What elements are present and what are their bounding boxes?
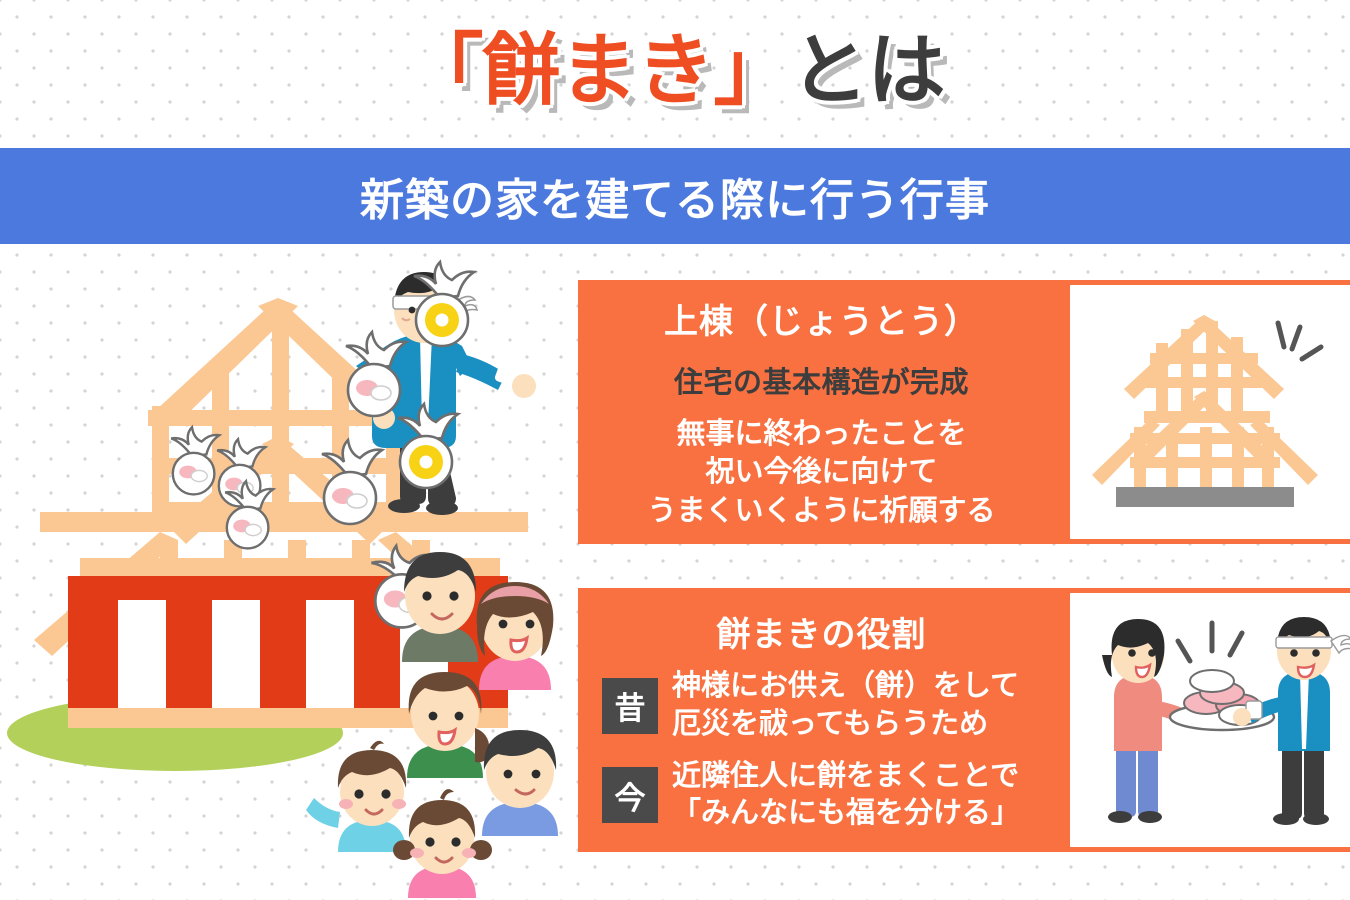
- panel-jouto-body-line-1: 無事に終わったことを: [647, 415, 995, 453]
- panel-jouto-text: 上棟（じょうとう） 住宅の基本構造が完成 無事に終わったことを 祝い今後に向けて…: [578, 280, 1065, 544]
- panel-jouto-subheading: 住宅の基本構造が完成: [674, 359, 969, 401]
- main-title-text: 「餅まき」とは: [405, 31, 944, 109]
- role-past-line-1: 神様にお供え（餅）をして: [672, 668, 1019, 706]
- panel-jouto-heading: 上棟（じょうとう）: [664, 294, 979, 343]
- panel-mochimaki-text: 餅まきの役割 昔 神様にお供え（餅）をして 厄災を祓ってもらうため 今 近隣住人…: [578, 588, 1065, 852]
- mochi-plate: [1170, 670, 1274, 730]
- panel-mochimaki-heading: 餅まきの役割: [717, 607, 927, 656]
- mochi-handover-illustration: [1065, 588, 1350, 852]
- page-title: 「餅まき」とは: [0, 0, 1350, 140]
- sparkle-icon: [1278, 323, 1321, 359]
- role-row-present: 今 近隣住人に餅をまくことで 「みんなにも福を分ける」: [602, 758, 1055, 833]
- title-rest: とは: [791, 26, 945, 114]
- role-present-text: 近隣住人に餅をまくことで 「みんなにも福を分ける」: [672, 758, 1020, 833]
- panel-jouto: 上棟（じょうとう） 住宅の基本構造が完成 無事に終わったことを 祝い今後に向けて…: [578, 280, 1350, 544]
- badge-past: 昔: [602, 678, 658, 734]
- role-present-line-1: 近隣住人に餅をまくことで: [672, 758, 1020, 796]
- infographic-page: 「餅まき」とは 新築の家を建てる際に行う行事: [0, 0, 1350, 900]
- panel-jouto-body-line-3: うまくいくように祈願する: [647, 492, 995, 530]
- panel-jouto-body: 無事に終わったことを 祝い今後に向けて うまくいくように祈願する: [647, 415, 995, 530]
- foundation-slab: [1116, 487, 1294, 507]
- house-frame-illustration: [1065, 280, 1350, 544]
- role-row-past: 昔 神様にお供え（餅）をして 厄災を祓ってもらうため: [602, 668, 1055, 743]
- panel-mochimaki-role: 餅まきの役割 昔 神様にお供え（餅）をして 厄災を祓ってもらうため 今 近隣住人…: [578, 588, 1350, 852]
- subtitle-text: 新築の家を建てる際に行う行事: [360, 164, 990, 228]
- panel-jouto-body-line-2: 祝い今後に向けて: [647, 453, 995, 491]
- role-present-line-2: 「みんなにも福を分ける」: [672, 795, 1020, 833]
- panel-mochimaki-rows: 昔 神様にお供え（餅）をして 厄災を祓ってもらうため 今 近隣住人に餅をまくこと…: [588, 668, 1055, 833]
- mochimaki-scene-illustration: [0, 258, 578, 900]
- role-past-line-2: 厄災を祓ってもらうため: [672, 706, 1019, 744]
- subtitle-banner: 新築の家を建てる際に行う行事: [0, 148, 1350, 244]
- badge-present: 今: [602, 767, 658, 823]
- title-highlight: 「餅まき」: [405, 26, 790, 114]
- role-past-text: 神様にお供え（餅）をして 厄災を祓ってもらうため: [672, 668, 1019, 743]
- sparkle-icon: [1178, 623, 1242, 661]
